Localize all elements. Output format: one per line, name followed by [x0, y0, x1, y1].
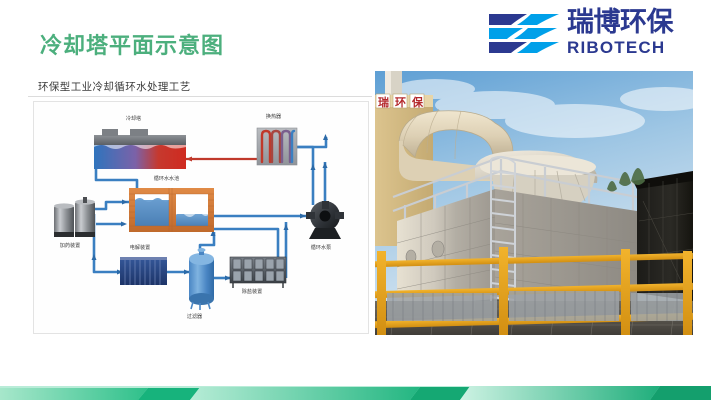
svg-text:瑞: 瑞 — [378, 95, 389, 109]
logo-mark-icon — [487, 12, 561, 56]
electrolysis-graphic — [120, 257, 167, 285]
diagram-label-circulating-pool: 循环水水池 — [154, 175, 180, 182]
logo-name-cn: 瑞博环保 — [567, 8, 699, 38]
diagram-label-dosing-device: 加药装置 — [60, 242, 80, 249]
diagram-label-cooling-tower: 冷却塔 — [126, 115, 141, 122]
page-title: 冷却塔平面示意图 — [40, 28, 224, 60]
desalination-graphic — [230, 257, 286, 288]
slide-canvas: 瑞博环保 RIBOTECH 冷却塔平面示意图 环保型工业冷却循环水处理工艺 — [0, 0, 711, 400]
svg-text:环: 环 — [395, 96, 406, 109]
cooling-tower-photo: 瑞环保 — [375, 71, 693, 335]
diagram-label-filter: 过滤器 — [187, 313, 202, 320]
diagram-label-desalination: 除盐装置 — [242, 288, 262, 295]
diagram-label-circulating-pump: 循环水泵 — [311, 244, 331, 251]
cooling-tower-graphic — [94, 129, 186, 169]
brand-logo: 瑞博环保 RIBOTECH — [487, 8, 699, 60]
process-flow-diagram — [34, 102, 370, 335]
dosing-device-graphic — [54, 197, 95, 237]
circulating-pool-graphic — [129, 188, 214, 232]
logo-name-en: RIBOTECH — [567, 38, 699, 57]
svg-text:保: 保 — [411, 95, 424, 109]
process-diagram-panel: 冷却塔 换热器 循环水水池 加药装置 电解装置 过滤器 除盐装置 循环水泵 — [33, 101, 369, 334]
filter-graphic — [189, 248, 214, 310]
footer-decoration — [0, 378, 711, 400]
title-divider — [28, 96, 372, 97]
page-subtitle: 环保型工业冷却循环水处理工艺 — [38, 79, 191, 94]
heat-exchanger-graphic — [257, 128, 297, 165]
circulating-pump-graphic — [306, 201, 344, 239]
diagram-label-heat-exchanger: 换热器 — [266, 113, 281, 120]
diagram-label-electrolysis: 电解装置 — [130, 244, 150, 251]
